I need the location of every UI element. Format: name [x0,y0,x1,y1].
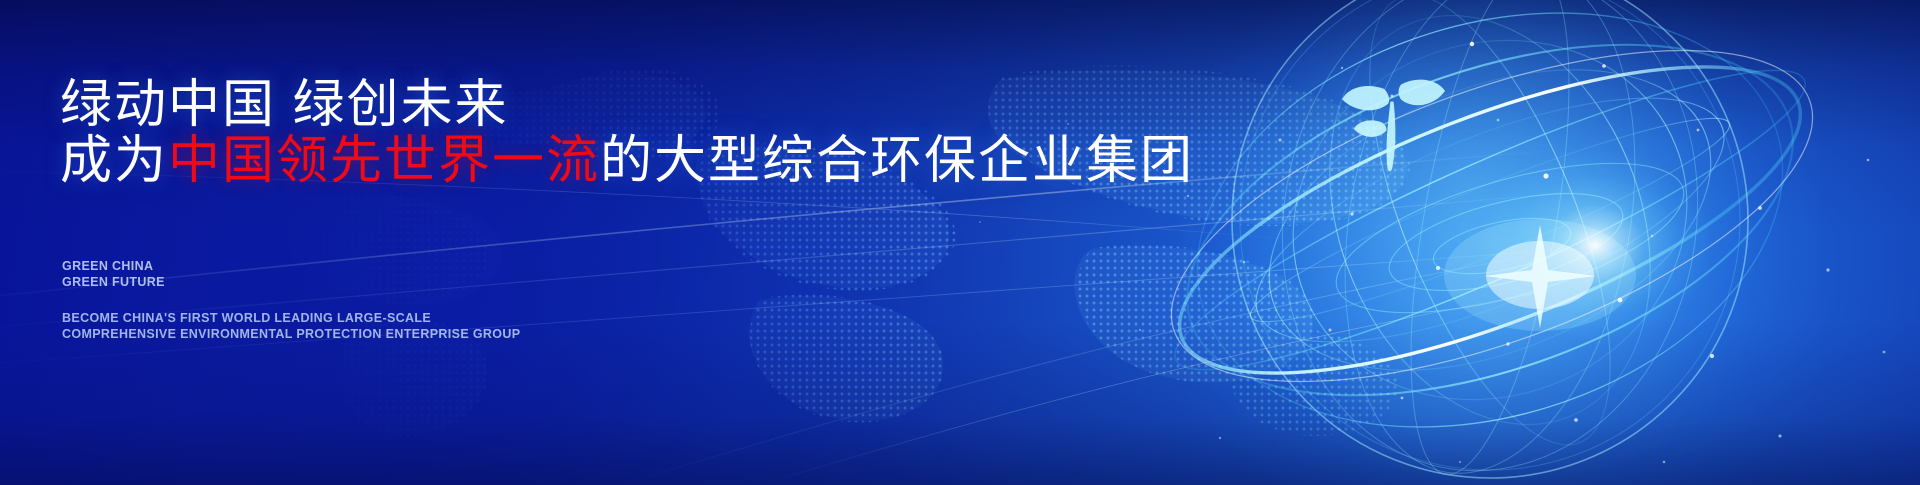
subtitle-line-2: COMPREHENSIVE ENVIRONMENTAL PROTECTION E… [62,326,520,342]
tagline-english: GREEN CHINA GREEN FUTURE [62,258,165,291]
banner-text-block: 绿动中国 绿创未来 成为中国领先世界一流的大型综合环保企业集团 GREEN CH… [60,0,1060,485]
headline-line-2-prefix: 成为 [60,132,168,190]
headline-line-1: 绿动中国 绿创未来 [60,78,508,133]
tagline-line-1: GREEN CHINA [62,258,165,274]
wireframe-globe-icon [1040,0,1920,485]
light-burst-icon [1444,219,1636,331]
headline-line-2: 成为中国领先世界一流的大型综合环保企业集团 [60,134,1194,189]
headline-line-2-suffix: 的大型综合环保企业集团 [600,132,1194,190]
hero-banner: 绿动中国 绿创未来 成为中国领先世界一流的大型综合环保企业集团 GREEN CH… [0,0,1920,485]
tagline-line-2: GREEN FUTURE [62,274,165,290]
subtitle-english: BECOME CHINA'S FIRST WORLD LEADING LARGE… [62,310,520,343]
subtitle-line-1: BECOME CHINA'S FIRST WORLD LEADING LARGE… [62,310,520,326]
headline-line-2-highlight: 中国领先世界一流 [168,132,600,190]
